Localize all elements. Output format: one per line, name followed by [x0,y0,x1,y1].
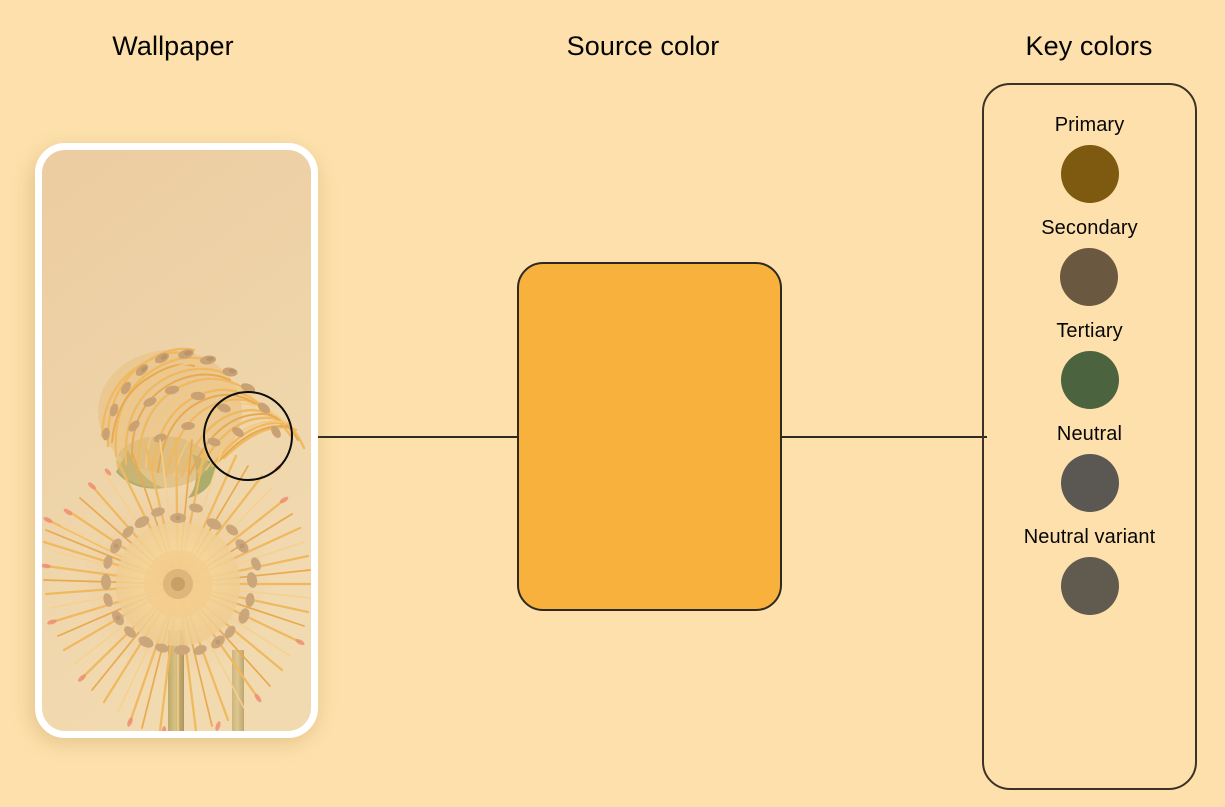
key-color-swatch-neutral-variant[interactable] [1061,557,1119,615]
connector-line-wallpaper-to-source [290,436,518,438]
key-color-item-secondary[interactable]: Secondary [1041,217,1138,306]
source-color-swatch[interactable] [517,262,782,611]
key-color-swatch-secondary[interactable] [1060,248,1118,306]
key-color-item-tertiary[interactable]: Tertiary [1056,320,1122,409]
key-color-swatch-neutral[interactable] [1061,454,1119,512]
diagram-canvas: Wallpaper Source color Key colors [0,0,1225,807]
key-color-swatch-tertiary[interactable] [1061,351,1119,409]
wallpaper-column-heading: Wallpaper [112,31,233,62]
connector-line-source-to-key-colors [780,436,987,438]
key-colors-column-heading: Key colors [1025,31,1152,62]
key-color-label: Secondary [1041,217,1138,240]
source-color-column-heading: Source color [567,31,720,62]
key-color-item-neutral[interactable]: Neutral [1057,423,1122,512]
key-color-label: Tertiary [1056,320,1122,343]
key-color-label: Primary [1055,114,1125,137]
key-colors-panel: Primary Secondary Tertiary Neutral Neutr… [982,83,1197,790]
key-color-item-neutral-variant[interactable]: Neutral variant [1024,526,1156,615]
color-sampler-circle-icon[interactable] [203,391,293,481]
key-color-item-primary[interactable]: Primary [1055,114,1125,203]
key-color-label: Neutral [1057,423,1122,446]
key-color-swatch-primary[interactable] [1061,145,1119,203]
key-color-label: Neutral variant [1024,526,1156,549]
